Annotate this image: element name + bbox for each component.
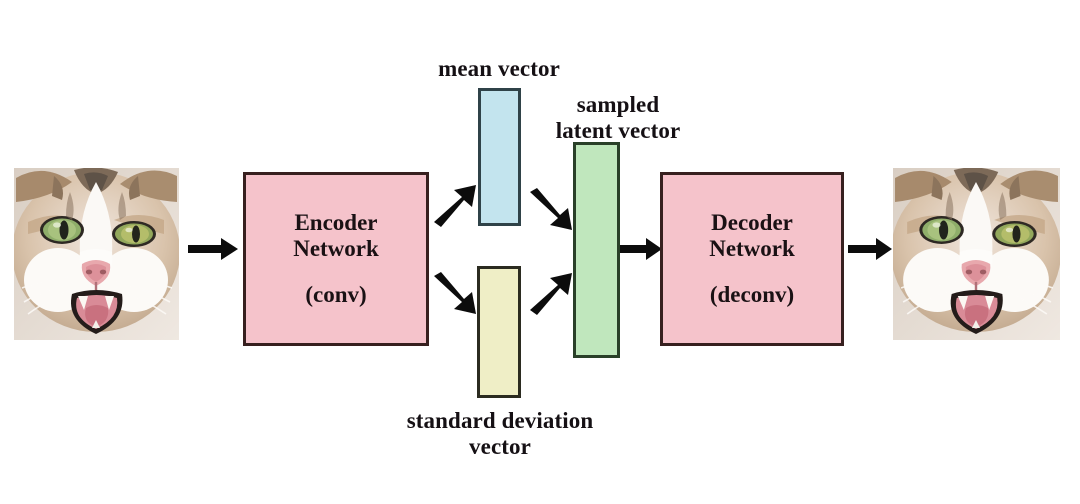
decoder-title: Decoder Network: [709, 210, 795, 262]
arrow-encoder-to-mean-vector: [432, 182, 478, 228]
sampled-latent-vector-bar: [573, 142, 620, 358]
diagram-canvas: Encoder Network (conv) mean vector stand…: [0, 0, 1080, 504]
arrow-decoder-to-output: [848, 236, 892, 262]
encoder-subtitle: (conv): [305, 282, 366, 308]
input-image: [14, 168, 179, 340]
sampled-latent-vector-label: sampled latent vector: [518, 92, 718, 145]
mean-vector-label: mean vector: [404, 56, 594, 82]
arrow-encoder-to-stddev-vector: [432, 272, 478, 318]
encoder-title: Encoder Network: [293, 210, 379, 262]
standard-deviation-vector-label: standard deviation vector: [380, 408, 620, 461]
encoder-network-block: Encoder Network (conv): [243, 172, 429, 346]
standard-deviation-vector-bar: [477, 266, 521, 398]
arrow-mean-to-latent-vector: [528, 188, 574, 234]
arrow-stddev-to-latent-vector: [528, 270, 574, 316]
output-image: [893, 168, 1060, 340]
mean-vector-bar: [478, 88, 521, 226]
decoder-network-block: Decoder Network (deconv): [660, 172, 844, 346]
decoder-subtitle: (deconv): [710, 282, 794, 308]
arrow-input-to-encoder: [188, 236, 238, 262]
arrow-latent-to-decoder: [620, 236, 662, 262]
